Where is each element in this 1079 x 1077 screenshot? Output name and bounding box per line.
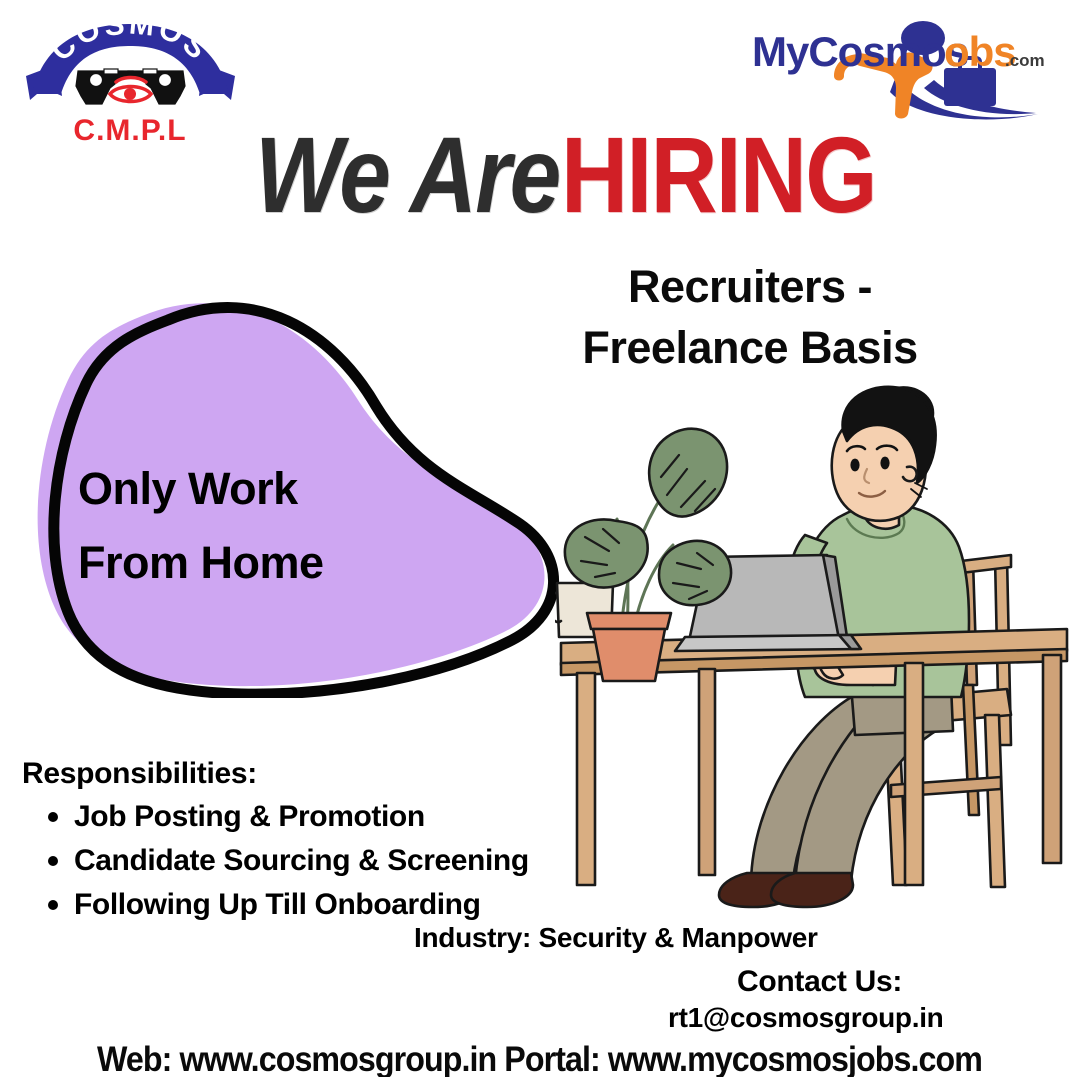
badge-text: Only Work From Home <box>78 452 478 601</box>
badge-line2: From Home <box>78 526 478 600</box>
list-item: Following Up Till Onboarding <box>74 883 532 927</box>
job-role-line1: Recruiters - <box>540 256 960 317</box>
job-role-line2: Freelance Basis <box>540 317 960 378</box>
list-item: Candidate Sourcing & Screening <box>74 839 532 883</box>
footer-links[interactable]: Web: www.cosmosgroup.in Portal: www.myco… <box>43 1040 1036 1077</box>
eye-icon <box>110 78 151 102</box>
industry-text: Industry: Security & Manpower <box>414 922 818 954</box>
list-item: Job Posting & Promotion <box>74 795 532 839</box>
headline-accent: HIRING <box>561 121 876 229</box>
cosmos-abbrev-text: C.M.P.L <box>73 114 186 147</box>
mcj-part1-text: MyCosmos <box>752 28 968 75</box>
badge-line1: Only Work <box>78 452 478 526</box>
page-title: We Are HIRING <box>255 121 895 236</box>
responsibilities-block: Responsibilities: Job Posting & Promotio… <box>22 757 532 926</box>
responsibilities-list: Job Posting & Promotion Candidate Sourci… <box>22 795 532 926</box>
job-role-subtitle: Recruiters - Freelance Basis <box>540 256 960 378</box>
hiring-poster: COSMOS C.M.P.L <box>0 0 1079 1077</box>
contact-us-label: Contact Us: <box>737 965 902 999</box>
mcj-part3-text: .com <box>1005 51 1045 70</box>
headline-plain: We Are <box>255 121 560 229</box>
mycosmosjobs-logo: MyCosmos obs .com <box>748 18 1048 123</box>
responsibilities-title: Responsibilities: <box>22 757 532 791</box>
cosmos-cmpl-logo: COSMOS C.M.P.L <box>18 18 243 148</box>
contact-email[interactable]: rt1@cosmosgroup.in <box>668 1002 944 1034</box>
woman-working-from-home-illustration <box>555 385 1075 930</box>
